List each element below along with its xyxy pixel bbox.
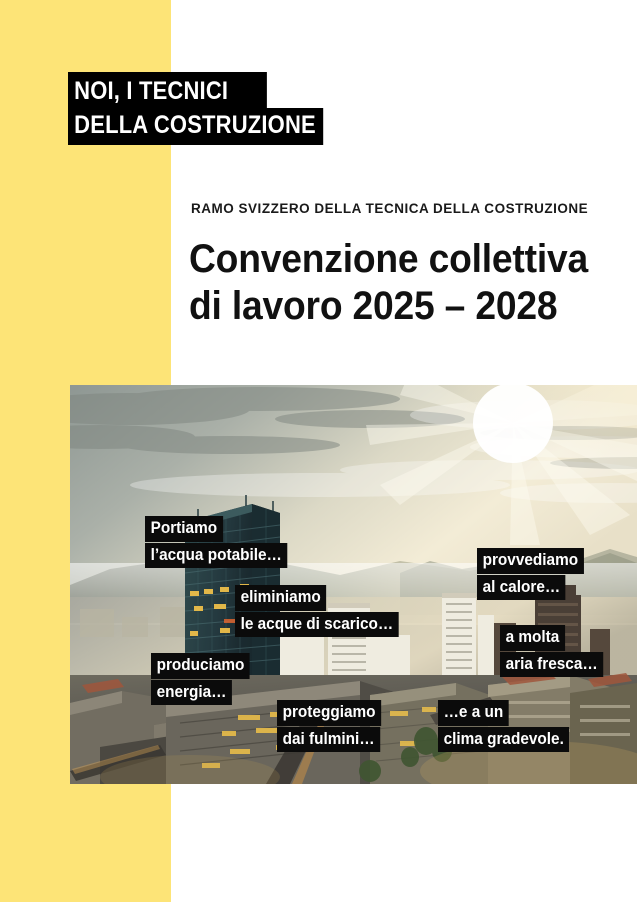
caption-heating-line-2: al calore… [477, 575, 566, 601]
caption-climate-line-1: …e a un [438, 700, 509, 726]
logo-line-1: NOI, I TECNICI [68, 72, 267, 108]
page-title: Convenzione collettiva di lavoro 2025 – … [189, 236, 588, 330]
caption-energy-line-2: energia… [151, 680, 232, 706]
photo-caption-water: Portiamo l’acqua potabile… [145, 516, 298, 568]
photo-caption-wastewater: eliminiamo le acque di scarico… [235, 585, 411, 637]
caption-lightning-line-2: dai fulmini… [277, 727, 380, 753]
photo-caption-energy: produciamo energia… [151, 653, 257, 705]
caption-water-line-2: l’acqua potabile… [145, 543, 287, 569]
brand-logo: NOI, I TECNICI DELLA COSTRUZIONE [68, 72, 358, 145]
caption-wastewater-line-2: le acque di scarico… [235, 612, 399, 638]
page-title-line-1: Convenzione collettiva [189, 236, 588, 283]
caption-air-line-2: aria fresca… [500, 652, 603, 678]
caption-energy-line-1: produciamo [151, 653, 250, 679]
photo-caption-lightning: proteggiamo dai fulmini… [277, 700, 389, 752]
caption-heating-line-1: provvediamo [477, 548, 584, 574]
caption-climate-line-2: clima gradevole. [438, 727, 569, 753]
photo-caption-air: a molta aria fresca… [500, 625, 611, 677]
caption-lightning-line-1: proteggiamo [277, 700, 381, 726]
page-title-line-2: di lavoro 2025 – 2028 [189, 283, 588, 330]
eyebrow-subtitle: RAMO SVIZZERO DELLA TECNICA DELLA COSTRU… [191, 201, 588, 217]
photo-caption-climate: …e a un clima gradevole. [438, 700, 579, 752]
caption-water-line-1: Portiamo [145, 516, 223, 542]
logo-line-2: DELLA COSTRUZIONE [68, 108, 323, 145]
photo-caption-heating: provvediamo al calore… [477, 548, 592, 600]
caption-wastewater-line-1: eliminiamo [235, 585, 326, 611]
caption-air-line-1: a molta [500, 625, 565, 651]
